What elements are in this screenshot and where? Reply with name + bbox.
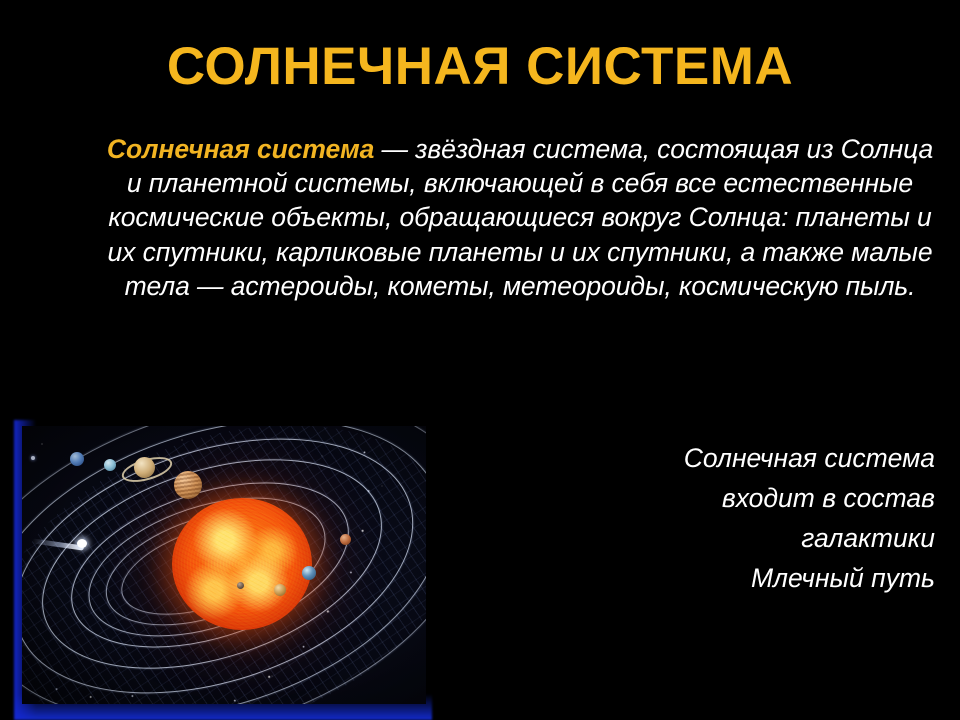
jupiter-icon: [174, 471, 202, 499]
galaxy-note-line: Млечный путь: [415, 558, 935, 598]
image-canvas: [22, 426, 426, 704]
galaxy-note: Солнечная система входит в состав галакт…: [415, 438, 935, 598]
venus-icon: [274, 584, 286, 596]
neptune-icon: [70, 452, 84, 466]
galaxy-note-line: входит в состав: [415, 478, 935, 518]
solar-system-image: [18, 424, 428, 712]
mercury-icon: [237, 582, 244, 589]
saturn-icon: [134, 457, 155, 478]
definition-lead-term: Солнечная система: [107, 134, 374, 164]
distant-star-icon: [31, 456, 35, 460]
sun-icon: [172, 498, 312, 630]
page-title: СОЛНЕЧНАЯ СИСТЕМА: [0, 38, 960, 96]
galaxy-note-line: Солнечная система: [415, 438, 935, 478]
slide-root: СОЛНЕЧНАЯ СИСТЕМА Солнечная система — зв…: [0, 0, 960, 720]
galaxy-note-line: галактики: [415, 518, 935, 558]
mars-icon: [340, 534, 351, 545]
definition-paragraph: Солнечная система — звёздная система, со…: [100, 132, 940, 303]
comet-icon: [77, 539, 87, 548]
uranus-icon: [104, 459, 116, 471]
sun-texture: [172, 498, 312, 630]
earth-icon: [302, 566, 316, 580]
